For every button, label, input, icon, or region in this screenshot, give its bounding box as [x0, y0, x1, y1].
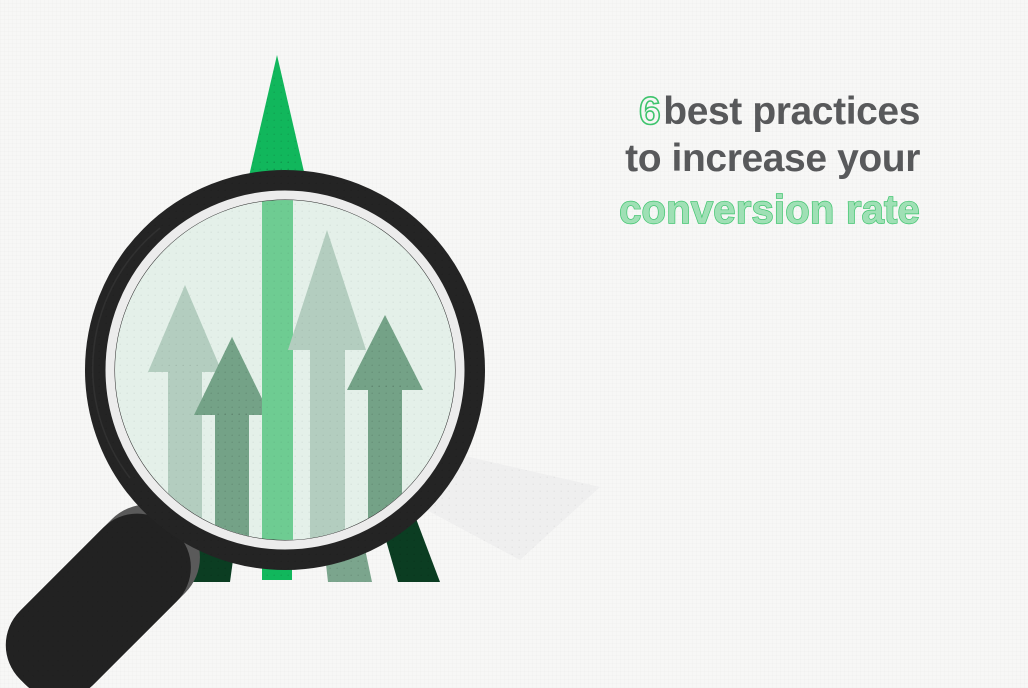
headline-line-1: 6best practices	[500, 92, 920, 131]
headline-line-3: conversion rate	[500, 190, 920, 230]
arrow-3-inside	[262, 185, 293, 550]
headline-number: 6	[639, 90, 663, 133]
headline-block: 6best practices to increase your convers…	[500, 92, 920, 230]
poster-canvas: 6best practices to increase your convers…	[0, 0, 1028, 688]
headline-line-2: to increase your	[500, 139, 920, 178]
headline-line-1-text: best practices	[663, 90, 920, 133]
